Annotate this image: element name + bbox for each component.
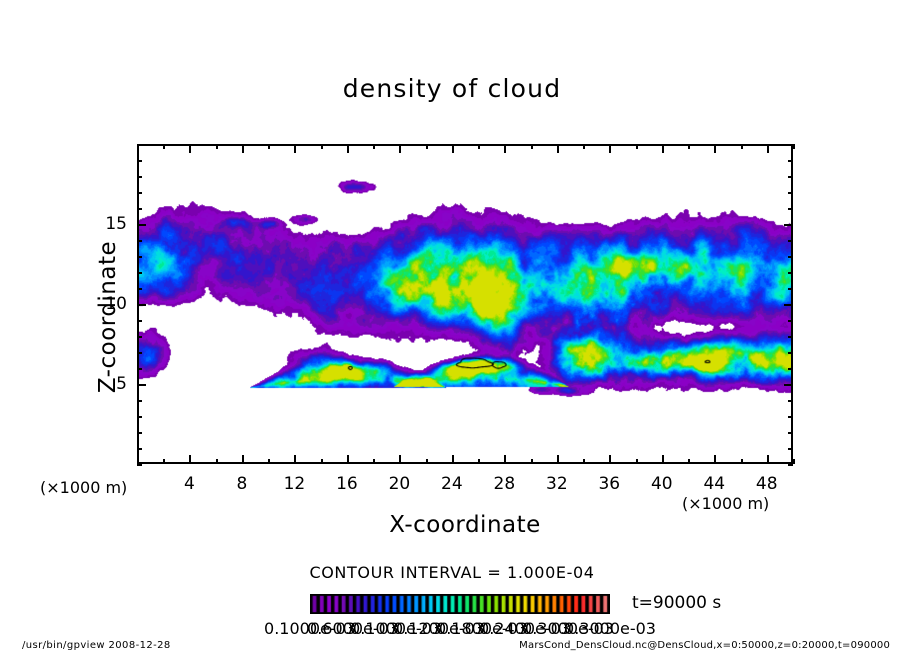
z-tick-left	[137, 176, 142, 178]
x-tick-bottom	[741, 459, 743, 464]
y-axis-units: (×1000 m)	[40, 478, 127, 497]
x-tick-bottom	[583, 459, 585, 464]
x-tick-top	[426, 144, 428, 149]
z-tick-right	[784, 304, 793, 306]
z-tick-left	[137, 320, 142, 322]
x-tick-bottom	[373, 459, 375, 464]
x-tick-bottom	[426, 459, 428, 464]
z-tick-right	[788, 464, 793, 466]
x-tick-bottom	[662, 455, 664, 464]
z-tick-right	[788, 288, 793, 290]
z-tick-left	[137, 240, 142, 242]
colorbar-gradient	[311, 595, 609, 613]
x-tick-top	[189, 144, 191, 153]
z-tick-right	[784, 224, 793, 226]
x-tick-top	[688, 144, 690, 149]
z-tick-left	[137, 368, 142, 370]
x-tick-bottom	[163, 459, 165, 464]
z-tick-right	[788, 160, 793, 162]
x-axis-units: (×1000 m)	[682, 494, 769, 513]
z-tick-right	[788, 448, 793, 450]
footer-command: /usr/bin/gpview 2008-12-28	[22, 640, 171, 651]
y-axis-title: Z-coordinate	[95, 157, 121, 477]
z-tick-left	[137, 160, 142, 162]
z-tick-left	[137, 464, 142, 466]
x-tick-bottom	[321, 459, 323, 464]
z-tick-right	[788, 208, 793, 210]
x-tick-bottom	[452, 455, 454, 464]
x-tick-top	[557, 144, 559, 153]
colorbar-tick-label: 0.3000e-03	[564, 619, 656, 638]
x-tick-bottom	[399, 455, 401, 464]
plot-area	[137, 144, 793, 464]
z-tick-left	[137, 192, 142, 194]
x-tick-bottom	[714, 455, 716, 464]
x-tick-top	[793, 144, 795, 149]
z-tick-right	[788, 272, 793, 274]
z-tick-left	[137, 256, 142, 258]
x-tick-bottom	[347, 455, 349, 464]
time-label: t=90000 s	[632, 593, 721, 613]
x-tick-label: 4	[184, 474, 195, 494]
footer-dataset-spec: MarsCond_DensCloud.nc@DensCloud,x=0:5000…	[519, 640, 890, 651]
z-tick-left	[137, 288, 142, 290]
z-tick-left	[137, 384, 146, 386]
x-tick-label: 48	[756, 474, 778, 494]
z-tick-left	[137, 208, 142, 210]
x-tick-top	[399, 144, 401, 153]
x-tick-bottom	[793, 459, 795, 464]
contour-field	[139, 146, 791, 462]
x-tick-top	[242, 144, 244, 153]
x-tick-bottom	[268, 459, 270, 464]
contour-interval-label: CONTOUR INTERVAL = 1.000E-04	[0, 563, 904, 582]
x-tick-top	[531, 144, 533, 149]
x-tick-label: 36	[598, 474, 620, 494]
z-tick-right	[788, 432, 793, 434]
x-tick-bottom	[294, 455, 296, 464]
z-tick-right	[788, 320, 793, 322]
x-tick-label: 24	[441, 474, 463, 494]
x-tick-bottom	[688, 459, 690, 464]
colorbar	[310, 594, 610, 614]
x-axis-title: X-coordinate	[137, 512, 793, 538]
z-tick-right	[788, 176, 793, 178]
z-tick-left	[137, 224, 146, 226]
colorbar-tick-labels: 0.1000e-030.6000e-030.1000e-030.1200e-03…	[0, 619, 904, 639]
x-tick-bottom	[531, 459, 533, 464]
z-tick-right	[788, 336, 793, 338]
x-tick-top	[452, 144, 454, 153]
page-title: density of cloud	[0, 74, 904, 103]
z-tick-right	[788, 416, 793, 418]
x-tick-top	[741, 144, 743, 149]
z-tick-left	[137, 416, 142, 418]
x-tick-top	[294, 144, 296, 153]
x-tick-top	[268, 144, 270, 149]
x-tick-bottom	[478, 459, 480, 464]
x-tick-top	[478, 144, 480, 149]
x-tick-top	[662, 144, 664, 153]
x-tick-top	[504, 144, 506, 153]
z-tick-left	[137, 272, 142, 274]
x-tick-bottom	[216, 459, 218, 464]
x-tick-bottom	[767, 455, 769, 464]
z-tick-right	[784, 384, 793, 386]
z-tick-right	[788, 352, 793, 354]
x-tick-label: 16	[336, 474, 358, 494]
x-tick-bottom	[504, 455, 506, 464]
x-tick-label: 44	[703, 474, 725, 494]
x-tick-label: 20	[389, 474, 411, 494]
z-tick-left	[137, 336, 142, 338]
x-tick-top	[347, 144, 349, 153]
x-tick-top	[609, 144, 611, 153]
x-tick-top	[583, 144, 585, 149]
x-tick-bottom	[189, 455, 191, 464]
x-tick-top	[373, 144, 375, 149]
z-tick-left	[137, 400, 142, 402]
x-tick-top	[714, 144, 716, 153]
x-tick-label: 28	[494, 474, 516, 494]
x-tick-top	[321, 144, 323, 149]
z-tick-right	[788, 192, 793, 194]
x-tick-label: 32	[546, 474, 568, 494]
x-tick-top	[216, 144, 218, 149]
x-tick-top	[163, 144, 165, 149]
x-tick-top	[767, 144, 769, 153]
x-tick-label: 8	[237, 474, 248, 494]
z-tick-right	[788, 144, 793, 146]
x-tick-bottom	[242, 455, 244, 464]
z-tick-right	[788, 368, 793, 370]
z-tick-left	[137, 144, 142, 146]
z-tick-left	[137, 304, 146, 306]
z-tick-right	[788, 256, 793, 258]
x-tick-bottom	[557, 455, 559, 464]
x-tick-top	[636, 144, 638, 149]
x-tick-bottom	[636, 459, 638, 464]
x-tick-label: 12	[284, 474, 306, 494]
z-tick-right	[788, 400, 793, 402]
z-tick-left	[137, 352, 142, 354]
z-tick-left	[137, 448, 142, 450]
z-tick-right	[788, 240, 793, 242]
z-tick-left	[137, 432, 142, 434]
x-tick-bottom	[609, 455, 611, 464]
x-tick-label: 40	[651, 474, 673, 494]
